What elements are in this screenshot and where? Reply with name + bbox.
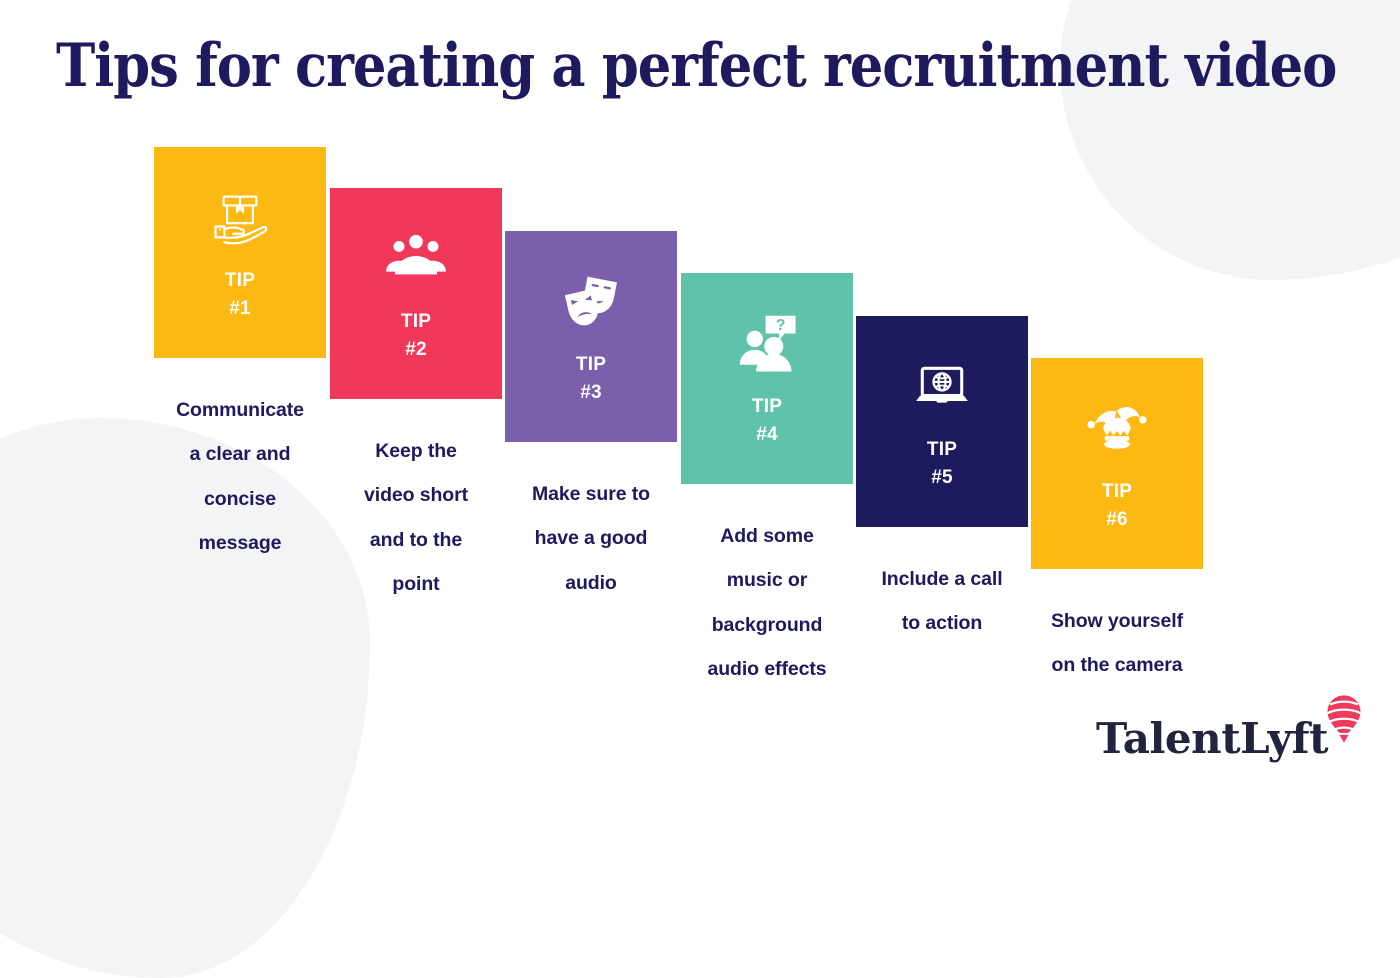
tip-label-line2: #2 [401,336,431,364]
caption-line: to action [856,601,1028,645]
tip-label-line1: TIP [927,436,957,464]
tip-card-5[interactable]: TIP #5 [856,316,1028,527]
talentlyft-logo: TalentLyft [1096,694,1364,760]
tip-caption-5: Include a call to action [856,557,1028,646]
tip-caption-4: Add some music or background audio effec… [681,514,853,692]
tip-caption-2: Keep the video short and to the point [330,429,502,607]
tip-column-1: TIP #1 Communicate a clear and concise m… [154,147,326,566]
caption-line: background [681,603,853,647]
tip-label-2: TIP #2 [401,308,431,363]
tip-card-6[interactable]: TIP #6 [1031,358,1203,569]
group-of-people-icon [380,224,452,292]
tip-label-line1: TIP [576,351,606,379]
tip-label-5: TIP #5 [927,436,957,491]
page-title: Tips for creating a perfect recruitment … [56,34,1165,99]
caption-line: Make sure to [505,472,677,516]
tip-label-line1: TIP [225,267,255,295]
caption-line: Add some [681,514,853,558]
tip-label-1: TIP #1 [225,267,255,322]
caption-line: video short [330,473,502,517]
tip-column-4: ? TIP #4 Add some music or background au… [681,273,853,692]
caption-line: Communicate [154,388,326,432]
people-question-bubble-icon: ? [731,309,803,377]
caption-line: have a good [505,516,677,560]
caption-line: and to the [330,518,502,562]
tip-column-3: TIP #3 Make sure to have a good audio [505,231,677,605]
jester-hat-icon [1081,394,1153,462]
tip-card-3[interactable]: TIP #3 [505,231,677,442]
caption-line: Show yourself [1031,599,1203,643]
tips-staircase: TIP #1 Communicate a clear and concise m… [0,0,1400,788]
caption-line: Keep the [330,429,502,473]
hand-holding-package-icon [204,183,276,251]
tip-label-line2: #1 [225,295,255,323]
tip-card-2[interactable]: TIP #2 [330,188,502,399]
tip-label-line1: TIP [1102,478,1132,506]
caption-line: a clear and [154,432,326,476]
caption-line: on the camera [1031,643,1203,687]
laptop-globe-icon [906,352,978,420]
tip-label-line1: TIP [752,393,782,421]
tip-caption-3: Make sure to have a good audio [505,472,677,605]
tip-card-1[interactable]: TIP #1 [154,147,326,358]
caption-line: audio effects [681,647,853,691]
tip-column-5: TIP #5 Include a call to action [856,316,1028,646]
logo-wordmark: TalentLyft [1096,718,1328,760]
tip-column-2: TIP #2 Keep the video short and to the p… [330,188,502,607]
caption-line: point [330,562,502,606]
tip-label-line2: #5 [927,464,957,492]
tip-label-line1: TIP [401,308,431,336]
tip-label-line2: #6 [1102,506,1132,534]
hot-air-balloon-icon [1324,694,1364,752]
caption-line: audio [505,561,677,605]
tip-label-6: TIP #6 [1102,478,1132,533]
svg-text:?: ? [776,317,786,334]
tip-label-line2: #4 [752,421,782,449]
tip-label-line2: #3 [576,379,606,407]
theater-masks-icon [555,267,627,335]
tip-card-4[interactable]: ? TIP #4 [681,273,853,484]
caption-line: message [154,521,326,565]
tip-caption-1: Communicate a clear and concise message [154,388,326,566]
caption-line: music or [681,558,853,602]
caption-line: concise [154,477,326,521]
tip-caption-6: Show yourself on the camera [1031,599,1203,688]
caption-line: Include a call [856,557,1028,601]
tip-column-6: TIP #6 Show yourself on the camera [1031,358,1203,688]
tip-label-3: TIP #3 [576,351,606,406]
tip-label-4: TIP #4 [752,393,782,448]
